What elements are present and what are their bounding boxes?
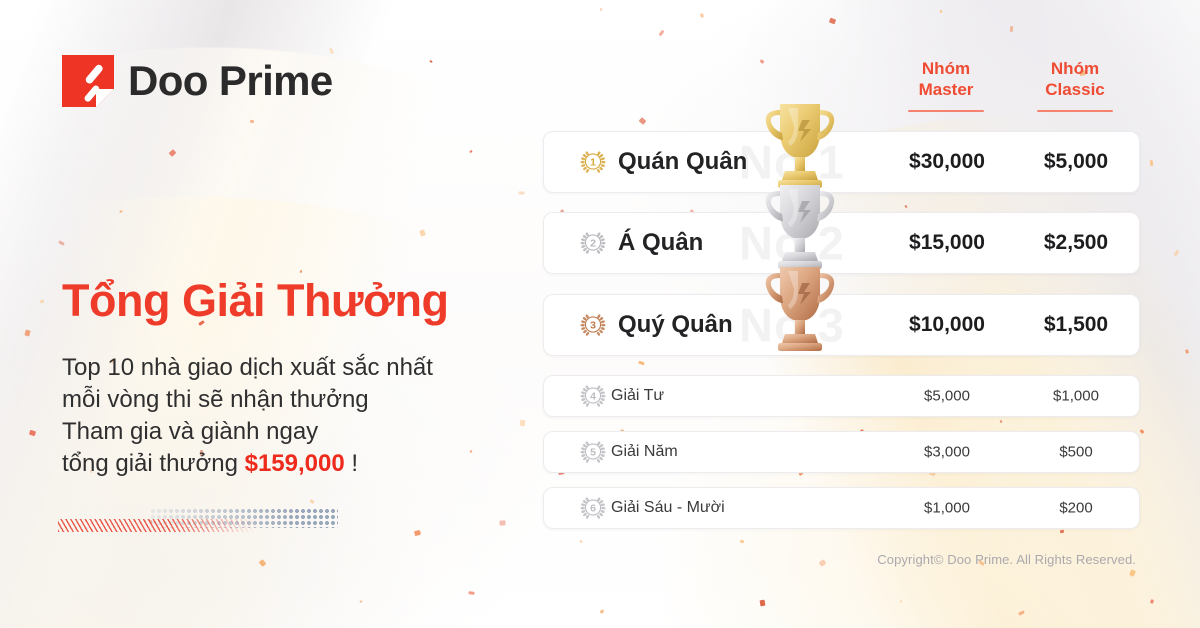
- prize-amount-master: $3,000: [877, 444, 1017, 461]
- prize-amount-classic: $1,500: [1006, 313, 1146, 337]
- prize-rank-label: Giải Năm: [611, 443, 678, 461]
- hero-line-2: mỗi vòng thi sẽ nhận thưởng: [62, 384, 532, 416]
- prize-amount-master: $30,000: [877, 150, 1017, 174]
- brand-logo: Doo Prime: [62, 55, 333, 107]
- prize-rank-label: Giải Tư: [611, 387, 664, 405]
- table-column-headers: Nhóm Master Nhóm Classic: [543, 58, 1143, 120]
- decorative-pattern: [58, 508, 348, 532]
- rank-badge-2-icon: 2: [578, 228, 608, 258]
- prize-amount-classic: $500: [1006, 444, 1146, 461]
- svg-text:4: 4: [590, 391, 596, 403]
- column-header-master-line1: Nhóm: [922, 59, 970, 78]
- hero-panel: Doo Prime Tổng Giải Thưởng Top 10 nhà gi…: [0, 0, 540, 628]
- trophy-gold-icon: [758, 98, 842, 190]
- table-row: No.33Quý Quân$10,000$1,500: [543, 294, 1140, 356]
- prize-rank-label: Quán Quân: [618, 148, 747, 176]
- table-row: 6Giải Sáu - Mười$1,000$200: [543, 487, 1140, 529]
- column-header-master-underline: [908, 110, 984, 112]
- prize-amount-master: $15,000: [877, 231, 1017, 255]
- column-header-classic-line2: Classic: [1045, 80, 1105, 99]
- svg-text:6: 6: [590, 503, 596, 515]
- svg-text:3: 3: [590, 320, 596, 332]
- hero-line-4-prefix: tổng giải thưởng: [62, 450, 245, 477]
- doo-prime-logo-icon: [62, 55, 114, 107]
- column-header-master-line2: Master: [919, 80, 974, 99]
- prize-table: Nhóm Master Nhóm Classic No.11Quán Quân$…: [543, 0, 1143, 628]
- prize-rank-label: Á Quân: [618, 229, 703, 257]
- total-prize-amount: $159,000: [245, 450, 345, 477]
- column-header-classic: Nhóm Classic: [1005, 58, 1145, 112]
- column-header-classic-underline: [1037, 110, 1113, 112]
- prize-rank-label: Quý Quân: [618, 311, 733, 339]
- table-row: 5Giải Năm$3,000$500: [543, 431, 1140, 473]
- rank-badge-3-icon: 3: [578, 310, 608, 340]
- hero-line-4-suffix: !: [345, 450, 358, 477]
- table-row: 4Giải Tư$5,000$1,000: [543, 375, 1140, 417]
- confetti-dot: [1150, 160, 1154, 166]
- prize-amount-master: $5,000: [877, 388, 1017, 405]
- page-title: Tổng Giải Thưởng: [62, 278, 449, 323]
- svg-text:1: 1: [590, 157, 596, 169]
- rank-badge-4-icon: 4: [578, 381, 608, 411]
- trophy-silver-icon: [758, 179, 842, 271]
- rank-badge-6-icon: 6: [578, 493, 608, 523]
- hero-description: Top 10 nhà giao dịch xuất sắc nhất mỗi v…: [62, 352, 532, 480]
- trophy-bronze-icon: [758, 261, 842, 353]
- rank-badge-5-icon: 5: [578, 437, 608, 467]
- prize-amount-classic: $5,000: [1006, 150, 1146, 174]
- decorative-hatch-lines: [58, 519, 258, 532]
- hero-line-1: Top 10 nhà giao dịch xuất sắc nhất: [62, 352, 532, 384]
- prize-amount-master: $10,000: [877, 313, 1017, 337]
- prize-amount-master: $1,000: [877, 500, 1017, 517]
- column-header-master: Nhóm Master: [876, 58, 1016, 112]
- hero-line-4: tổng giải thưởng $159,000 !: [62, 448, 532, 480]
- column-header-classic-line1: Nhóm: [1051, 59, 1099, 78]
- copyright-notice: Copyright© Doo Prime. All Rights Reserve…: [543, 552, 1140, 567]
- prize-amount-classic: $1,000: [1006, 388, 1146, 405]
- prize-amount-classic: $200: [1006, 500, 1146, 517]
- prize-rank-label: Giải Sáu - Mười: [611, 499, 725, 517]
- svg-text:5: 5: [590, 447, 596, 459]
- hero-line-3: Tham gia và giành ngay: [62, 416, 532, 448]
- prize-amount-classic: $2,500: [1006, 231, 1146, 255]
- svg-text:2: 2: [590, 238, 596, 250]
- brand-name: Doo Prime: [128, 57, 333, 105]
- rank-badge-1-icon: 1: [578, 147, 608, 177]
